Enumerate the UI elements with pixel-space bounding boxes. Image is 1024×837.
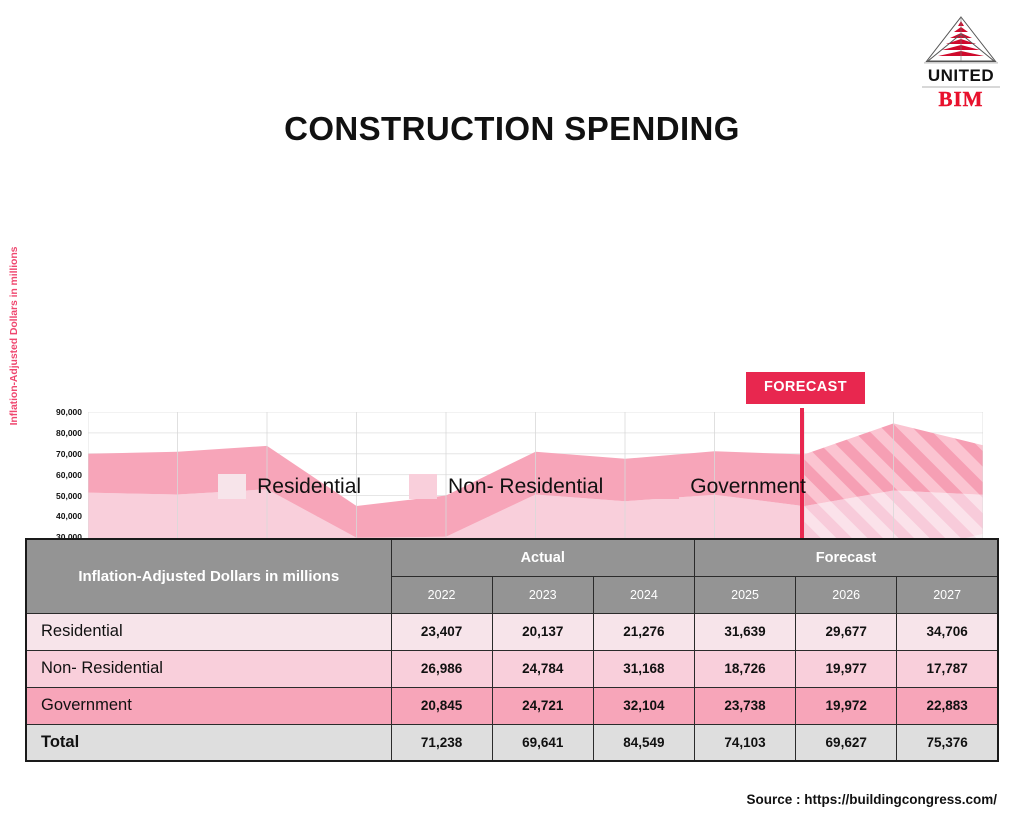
chart-y-axis-label: Inflation-Adjusted Dollars in millions bbox=[8, 236, 24, 436]
legend-label: Government bbox=[690, 475, 806, 499]
table-cell: 18,726 bbox=[694, 650, 795, 687]
legend-item[interactable]: Non- Residential bbox=[409, 474, 603, 499]
table-group-header-forecast: Forecast bbox=[694, 539, 998, 576]
forecast-badge: FORECAST bbox=[746, 372, 865, 404]
table-cell: 24,721 bbox=[492, 687, 593, 724]
legend-swatch-icon bbox=[218, 474, 246, 499]
table-cell: 23,738 bbox=[694, 687, 795, 724]
table-row: Non- Residential26,98624,78431,16818,726… bbox=[26, 650, 998, 687]
table-header-row-groups: Inflation-Adjusted Dollars in millions A… bbox=[26, 539, 998, 576]
data-table-wrapper: Inflation-Adjusted Dollars in millions A… bbox=[25, 538, 999, 762]
table-year-header: 2025 bbox=[694, 576, 795, 613]
table-row: Residential23,40720,13721,27631,63929,67… bbox=[26, 613, 998, 650]
table-cell: 84,549 bbox=[593, 724, 694, 761]
legend-item[interactable]: Government bbox=[651, 474, 806, 499]
page-title: CONSTRUCTION SPENDING bbox=[0, 110, 1024, 148]
logo: UNITED BIM bbox=[908, 14, 1014, 106]
table-cell: 20,137 bbox=[492, 613, 593, 650]
table-cell: 34,706 bbox=[897, 613, 998, 650]
table-cell: 69,641 bbox=[492, 724, 593, 761]
table-row-label: Total bbox=[26, 724, 391, 761]
data-table: Inflation-Adjusted Dollars in millions A… bbox=[25, 538, 999, 762]
table-year-header: 2022 bbox=[391, 576, 492, 613]
legend-label: Non- Residential bbox=[448, 475, 603, 499]
pyramid-icon bbox=[908, 14, 1014, 66]
table-year-header: 2023 bbox=[492, 576, 593, 613]
table-row-label: Residential bbox=[26, 613, 391, 650]
table-cell: 69,627 bbox=[796, 724, 897, 761]
table-cell: 24,784 bbox=[492, 650, 593, 687]
table-cell: 74,103 bbox=[694, 724, 795, 761]
table-cell: 22,883 bbox=[897, 687, 998, 724]
table-cell: 75,376 bbox=[897, 724, 998, 761]
legend-swatch-icon bbox=[651, 474, 679, 499]
table-cell: 19,977 bbox=[796, 650, 897, 687]
table-year-header: 2024 bbox=[593, 576, 694, 613]
table-cell: 31,639 bbox=[694, 613, 795, 650]
table-cell: 19,972 bbox=[796, 687, 897, 724]
table-cell: 29,677 bbox=[796, 613, 897, 650]
table-cell: 17,787 bbox=[897, 650, 998, 687]
table-year-header: 2027 bbox=[897, 576, 998, 613]
table-row-label: Non- Residential bbox=[26, 650, 391, 687]
table-cell: 26,986 bbox=[391, 650, 492, 687]
logo-bim-text: BIM bbox=[908, 89, 1014, 110]
y-tick-label: 90,000 bbox=[56, 407, 82, 417]
logo-united-text: UNITED bbox=[908, 67, 1014, 84]
infographic-page: UNITED BIM CONSTRUCTION SPENDING Inflati… bbox=[0, 0, 1024, 837]
table-year-header: 2026 bbox=[796, 576, 897, 613]
table-cell: 23,407 bbox=[391, 613, 492, 650]
table-row: Total71,23869,64184,54974,10369,62775,37… bbox=[26, 724, 998, 761]
table-group-header-actual: Actual bbox=[391, 539, 694, 576]
y-tick-label: 40,000 bbox=[56, 511, 82, 521]
chart-legend: ResidentialNon- ResidentialGovernment bbox=[0, 474, 1024, 499]
table-row-label: Government bbox=[26, 687, 391, 724]
table-cell: 71,238 bbox=[391, 724, 492, 761]
legend-label: Residential bbox=[257, 475, 361, 499]
chart: Inflation-Adjusted Dollars in millions 0… bbox=[0, 180, 1024, 445]
legend-item[interactable]: Residential bbox=[218, 474, 361, 499]
table-cell: 21,276 bbox=[593, 613, 694, 650]
table-cell: 31,168 bbox=[593, 650, 694, 687]
table-row: Government20,84524,72132,10423,73819,972… bbox=[26, 687, 998, 724]
y-tick-label: 80,000 bbox=[56, 428, 82, 438]
y-tick-label: 70,000 bbox=[56, 449, 82, 459]
table-cell: 32,104 bbox=[593, 687, 694, 724]
legend-swatch-icon bbox=[409, 474, 437, 499]
source-text: Source : https://buildingcongress.com/ bbox=[746, 792, 997, 807]
table-cell: 20,845 bbox=[391, 687, 492, 724]
table-corner-header: Inflation-Adjusted Dollars in millions bbox=[26, 539, 391, 613]
